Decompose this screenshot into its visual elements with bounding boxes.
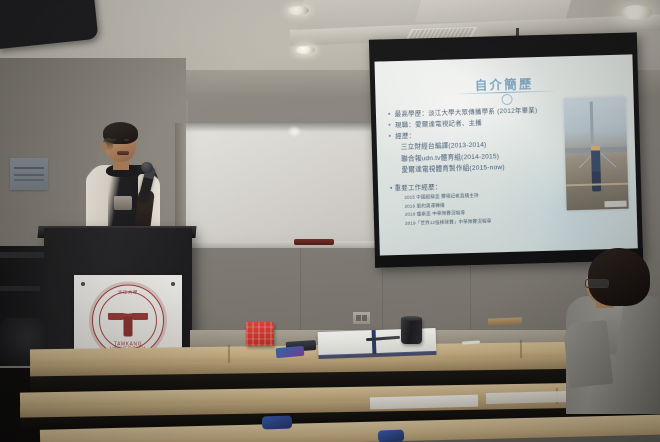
red-box	[246, 322, 274, 346]
bullet-text: 經歷：	[395, 131, 415, 143]
lecture-hall-photo: 自介簡歷 • 最高學歷：淡江大學大眾傳播學系 (2012年畢業) • 現職：愛爾…	[0, 0, 660, 442]
coffee-cup-lip	[401, 316, 422, 321]
papers-row-2-secondary	[486, 391, 572, 404]
projection-screen-frame: 自介簡歷 • 最高學歷：淡江大學大眾傳播學系 (2012年畢業) • 現職：愛爾…	[369, 32, 643, 267]
podium-shelf	[0, 286, 40, 291]
audience-woman-arm	[563, 320, 613, 388]
whiteboard-marker-tray	[186, 241, 376, 248]
podium-shelf	[0, 252, 44, 258]
plaque-top-text: 淡江大學	[103, 289, 153, 300]
desk-paper-stack	[488, 317, 522, 325]
audience-woman-hair	[588, 248, 650, 306]
downlight-icon	[295, 46, 315, 54]
presenter-eye	[124, 139, 129, 141]
whiteboard-top-shadow	[186, 123, 376, 132]
bullet-marker: •	[388, 131, 391, 142]
photo-caption-bar	[604, 201, 626, 208]
bridge-tower	[590, 102, 594, 148]
coffee-cup	[401, 318, 422, 344]
folder-spine	[372, 330, 377, 354]
whiteboard-glare	[288, 127, 301, 136]
slide-section-two: • 重要工作經歷： 2015 中國超級盃 賽場記者直播主持 2016 里約奧運轉…	[390, 178, 581, 229]
slide-photo-bridge-portrait	[564, 97, 629, 211]
slide-bullet-list: • 最高學歷：淡江大學大眾傳播學系 (2012年畢業) • 現職：愛爾達電視記者…	[388, 104, 566, 176]
seal-torch	[124, 316, 133, 336]
bullet-marker: •	[388, 120, 391, 131]
glasses-icon	[585, 279, 609, 288]
blue-notice-sign	[10, 158, 48, 190]
plaque-screw	[171, 282, 175, 286]
presenter-eye	[111, 139, 116, 141]
presenter-mouth	[117, 151, 129, 155]
power-outlet-panel	[352, 311, 371, 325]
plaque-screw	[81, 282, 85, 286]
tamkang-university-seal-icon: 淡江大學 TAMKANG UNIVERSITY	[92, 284, 164, 356]
projection-screen: 自介簡歷 • 最高學歷：淡江大學大眾傳播學系 (2012年畢業) • 現職：愛爾…	[374, 54, 637, 257]
jacket-logo	[114, 196, 132, 210]
bullet-marker: •	[388, 109, 391, 120]
blue-bag	[262, 415, 292, 429]
downlight-icon	[287, 6, 309, 15]
blue-bag	[378, 430, 404, 442]
desk-seam	[228, 345, 230, 363]
presenter-ear	[101, 142, 107, 151]
whiteboard-marker	[294, 239, 334, 245]
whiteboard	[186, 123, 379, 246]
downlight-icon	[620, 5, 652, 20]
desk-seam	[520, 340, 522, 358]
